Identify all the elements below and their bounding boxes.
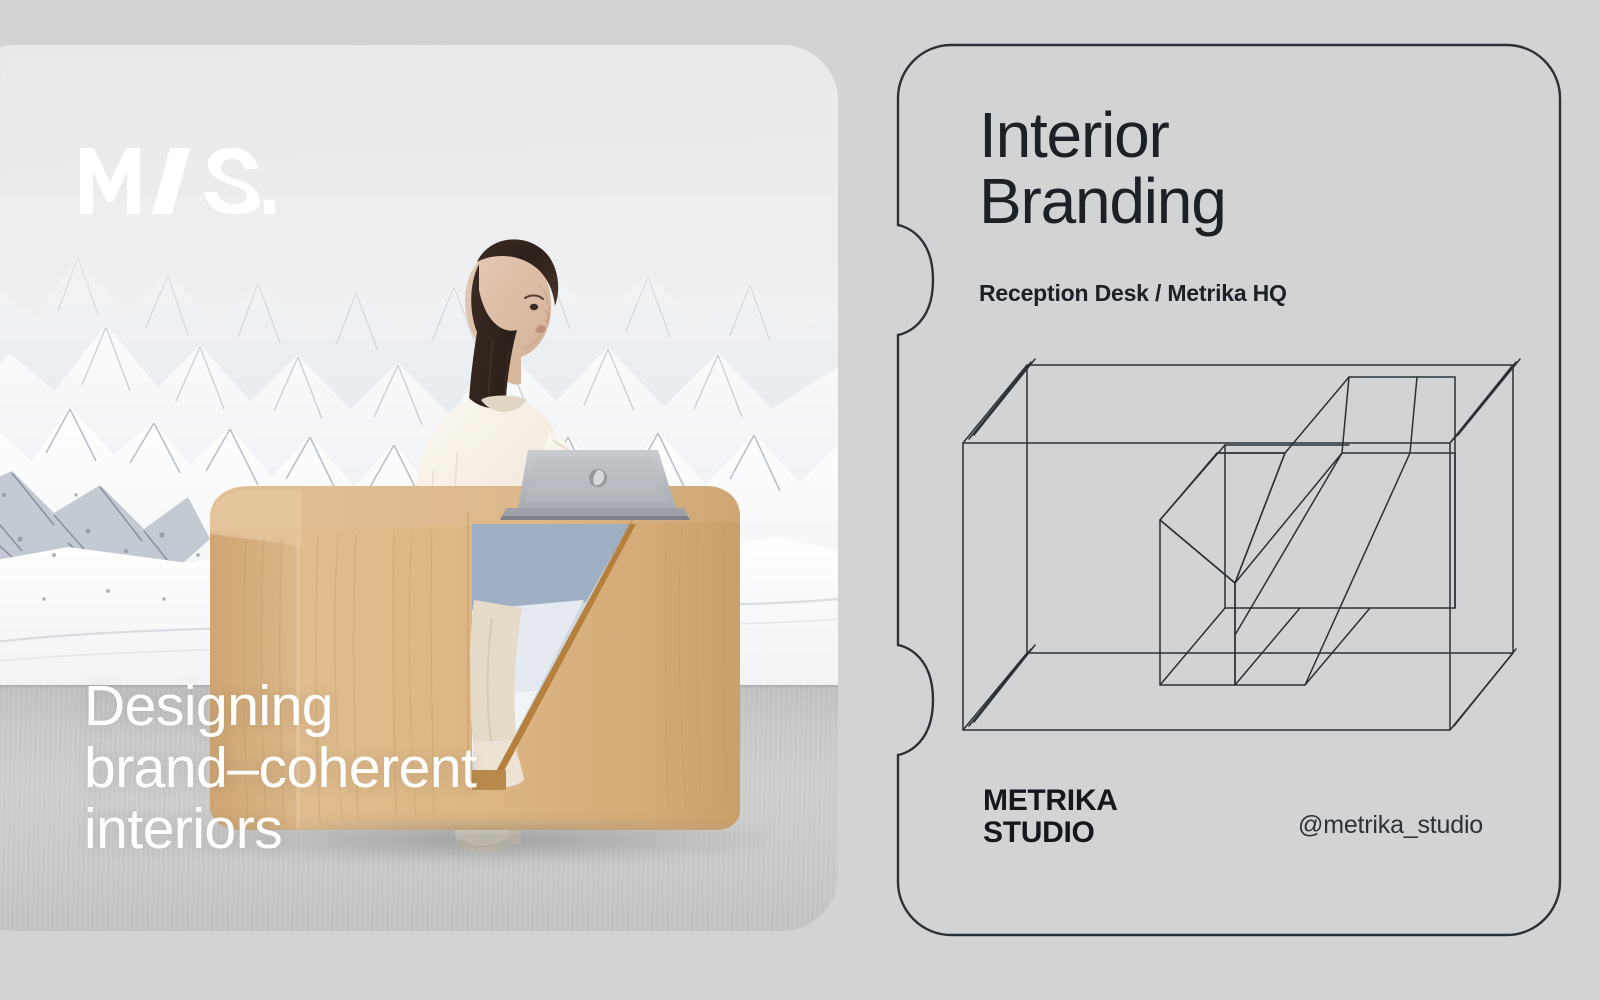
spec-card: Interior Branding Reception Desk / Metri… [893,40,1565,940]
mvs-monogram-logo [80,150,275,214]
isometric-desk-wireframe-icon [945,335,1530,755]
page-subtitle: Reception Desk / Metrika HQ [979,280,1287,307]
apple-laptop-icon [500,450,690,520]
spec-card-content: Interior Branding Reception Desk / Metri… [893,40,1565,940]
headline: Designing brand–coherent interiors [84,676,476,861]
poster-canvas: Designing brand–coherent interiors Inter… [0,0,1600,1000]
photo-card: Designing brand–coherent interiors [0,45,838,931]
social-handle[interactable]: @metrika_studio [1298,811,1483,840]
photo-composite: Designing brand–coherent interiors [0,45,838,931]
page-title: Interior Branding [979,103,1226,235]
brand-lockup: METRIKA STUDIO [983,785,1118,848]
